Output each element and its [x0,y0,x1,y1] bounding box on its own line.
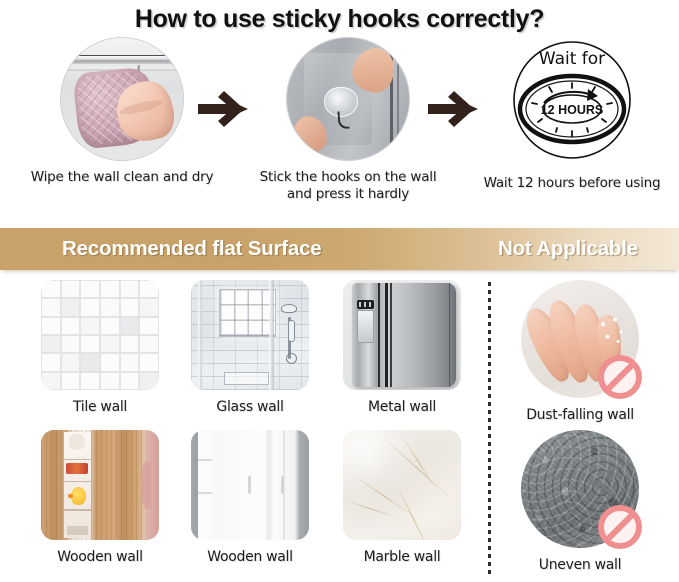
marble-wall-label: Marble wall [327,549,477,565]
surface-item-uneven-wall: Uneven wall [505,430,655,573]
surface-item-white-wooden-wall: Wooden wall [175,430,325,565]
step-stick-caption-line1: Stick the hooks on the wall [248,169,448,186]
surface-grid: Tile wall Glass wall [0,276,679,582]
step-stick-caption: Stick the hooks on the wall and press it… [248,169,448,202]
surface-item-tile-wall: Tile wall [25,280,175,415]
step-stick: Stick the hooks on the wall and press it… [248,37,448,202]
wooden-wall-label: Wooden wall [25,549,175,565]
section-divider [488,282,491,574]
prohibition-icon [597,504,643,550]
step-wait: 12 HOURS Wait for Wait 12 hours before u… [472,37,672,192]
surface-item-dust-falling-wall: Dust-falling wall [505,280,655,423]
uneven-wall-label: Uneven wall [505,557,655,573]
glass-wall-thumbnail [191,280,309,390]
tile-wall-thumbnail [41,280,159,390]
metal-wall-label: Metal wall [327,399,477,415]
wooden-wall-thumbnail [41,430,159,540]
steps-row: Wipe the wall clean and dry Stick the ho… [0,37,679,209]
clock-center-text: 12 HOURS [541,103,604,117]
page-title: How to use sticky hooks correctly? [0,0,679,34]
step-stick-caption-line2: and press it hardly [248,186,448,203]
white-wooden-wall-thumbnail [191,430,309,540]
surface-item-wooden-wall: Wooden wall [25,430,175,565]
step-wipe: Wipe the wall clean and dry [22,37,222,186]
hand-wiping-wall-with-cloth-photo [60,37,184,161]
banner-recommended-label: Recommended flat Surface [62,237,322,261]
marble-wall-thumbnail [343,430,461,540]
arrow-right-icon [198,89,250,129]
glass-wall-label: Glass wall [175,399,325,415]
clock-top-text: Wait for [539,49,605,69]
tile-wall-label: Tile wall [25,399,175,415]
surface-item-marble-wall: Marble wall [327,430,477,565]
banner-not-applicable-label: Not Applicable [498,237,638,261]
white-wooden-wall-label: Wooden wall [175,549,325,565]
wait-12-hours-clock-icon: 12 HOURS Wait for [502,37,642,167]
metal-wall-thumbnail [343,280,461,390]
step-wait-caption: Wait 12 hours before using [472,175,672,192]
prohibition-icon [597,354,643,400]
dust-falling-wall-label: Dust-falling wall [505,407,655,423]
transparent-hook-pressed-on-wall-photo [286,37,410,161]
section-banner: Recommended flat Surface Not Applicable [0,228,679,270]
step-wipe-caption: Wipe the wall clean and dry [22,169,222,186]
surface-item-metal-wall: Metal wall [327,280,477,415]
surface-item-glass-wall: Glass wall [175,280,325,415]
